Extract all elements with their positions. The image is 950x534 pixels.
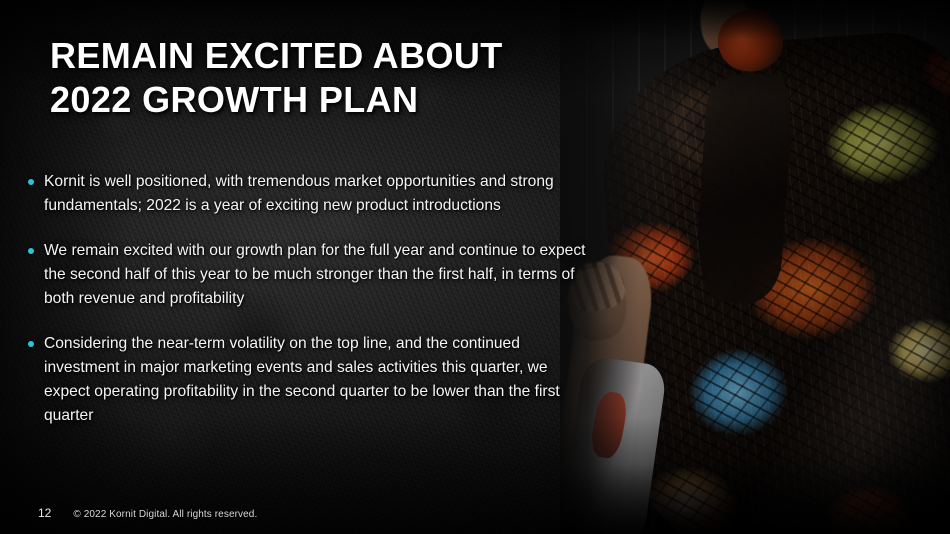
bullet-item: Considering the near-term volatility on … <box>28 332 588 427</box>
bullet-marker-icon <box>28 341 34 347</box>
page-number: 12 <box>38 506 51 520</box>
presentation-slide: REMAIN EXCITED ABOUT 2022 GROWTH PLAN Ko… <box>0 0 950 534</box>
bullet-marker-icon <box>28 248 34 254</box>
bullet-item: We remain excited with our growth plan f… <box>28 239 588 310</box>
bullet-text: Kornit is well positioned, with tremendo… <box>44 170 588 217</box>
slide-footer: 12 © 2022 Kornit Digital. All rights res… <box>38 506 257 520</box>
bullet-list: Kornit is well positioned, with tremendo… <box>28 170 588 449</box>
slide-content: REMAIN EXCITED ABOUT 2022 GROWTH PLAN Ko… <box>0 0 950 534</box>
bullet-text: Considering the near-term volatility on … <box>44 332 588 427</box>
slide-title: REMAIN EXCITED ABOUT 2022 GROWTH PLAN <box>50 34 610 122</box>
bullet-item: Kornit is well positioned, with tremendo… <box>28 170 588 217</box>
bullet-marker-icon <box>28 179 34 185</box>
bullet-text: We remain excited with our growth plan f… <box>44 239 588 310</box>
copyright-notice: © 2022 Kornit Digital. All rights reserv… <box>73 509 257 520</box>
